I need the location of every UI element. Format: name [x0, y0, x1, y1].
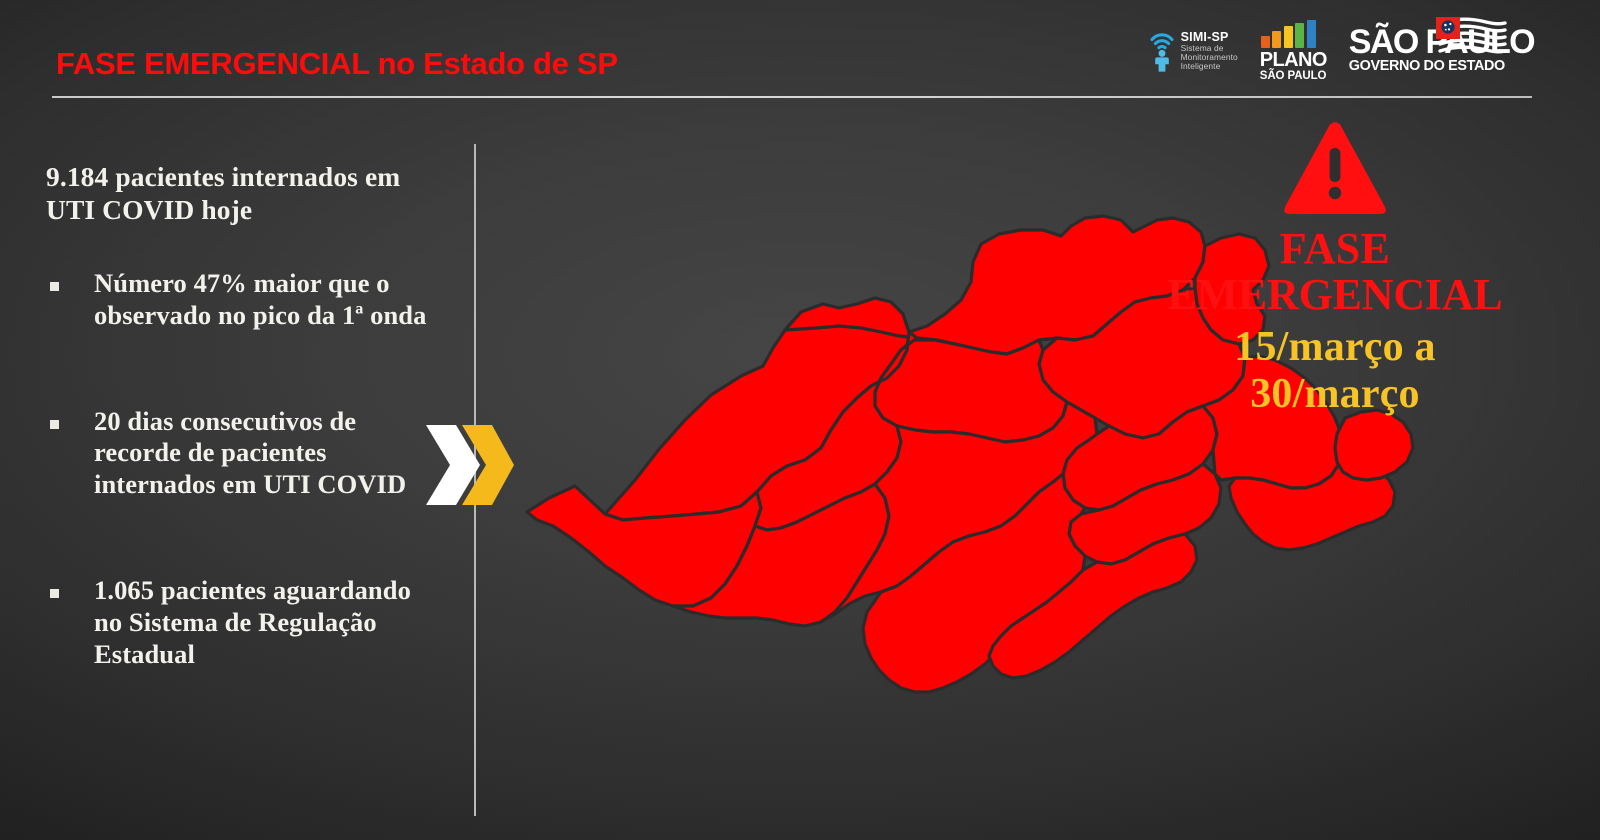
simi-sub-3: Inteligente: [1181, 62, 1238, 71]
logo-bar: SIMI-SP Sistema de Monitoramento Intelig…: [1149, 18, 1534, 84]
logo-governo-sao-paulo: SÃO PAULO GOVERNO DO ESTADO: [1349, 29, 1534, 73]
bullet-text: 20 dias consecutivos de recorde de pacie…: [94, 406, 438, 501]
bullet-text: Número 47% maior que o observado no pico…: [94, 268, 438, 332]
bullet-square-icon: [50, 589, 59, 598]
bullet-square-icon: [50, 282, 59, 291]
list-item: Número 47% maior que o observado no pico…: [46, 268, 438, 332]
date-line-1: 15/março a: [1234, 324, 1435, 370]
phase-line-2: EMERGENCIAL: [1160, 272, 1510, 318]
plano-word-2: SÃO PAULO: [1260, 70, 1327, 82]
phase-line-1: FASE: [1280, 224, 1390, 273]
page-title: FASE EMERGENCIAL no Estado de SP: [56, 46, 618, 82]
bullet-square-icon: [50, 420, 59, 429]
list-item: 20 dias consecutivos de recorde de pacie…: [46, 406, 438, 501]
plano-bar-3: [1284, 26, 1293, 48]
logo-plano-sao-paulo: PLANO SÃO PAULO: [1260, 20, 1327, 81]
sao-paulo-flag-icon: [1436, 17, 1508, 57]
double-chevron-right-icon: [424, 423, 516, 507]
phase-date-range: 15/março a 30/março: [1160, 324, 1510, 418]
plano-word-1: PLANO: [1260, 51, 1327, 69]
bullet-text: 1.065 pacientes aguardando no Sistema de…: [94, 575, 438, 670]
warning-triangle-icon: [1281, 118, 1389, 218]
header-divider-rule: [52, 96, 1532, 98]
phase-label: FASE EMERGENCIAL: [1160, 226, 1510, 318]
logo-simi-sp: SIMI-SP Sistema de Monitoramento Intelig…: [1149, 30, 1238, 72]
lead-statistic: 9.184 pacientes internados em UTI COVID …: [46, 160, 438, 226]
logo-simi-text: SIMI-SP Sistema de Monitoramento Intelig…: [1181, 31, 1238, 71]
gov-line-2: GOVERNO DO ESTADO: [1349, 59, 1534, 73]
left-stats-column: 9.184 pacientes internados em UTI COVID …: [46, 160, 438, 670]
plano-bar-2: [1272, 31, 1281, 48]
list-item: 1.065 pacientes aguardando no Sistema de…: [46, 575, 438, 670]
emergency-phase-panel: FASE EMERGENCIAL 15/março a 30/março: [1160, 118, 1510, 418]
plano-bar-chart-icon: [1261, 20, 1316, 48]
plano-bar-5: [1307, 20, 1316, 48]
person-wifi-icon: [1149, 30, 1175, 72]
plano-bar-4: [1295, 23, 1304, 48]
date-line-2: 30/março: [1160, 371, 1510, 418]
plano-bar-1: [1261, 36, 1270, 48]
simi-name: SIMI-SP: [1181, 31, 1238, 44]
slide-root: FASE EMERGENCIAL no Estado de SP SIMI-SP…: [0, 0, 1600, 840]
